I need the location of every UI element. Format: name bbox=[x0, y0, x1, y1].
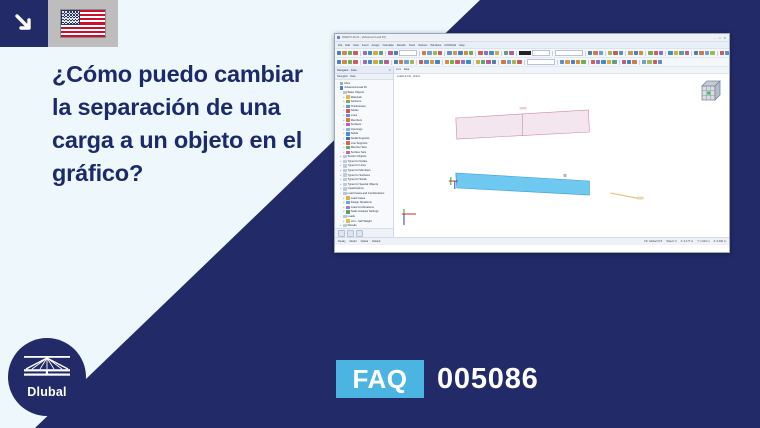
menu-item-assign[interactable]: Assign bbox=[372, 44, 380, 47]
toolbar-icon[interactable] bbox=[658, 60, 662, 64]
toolbar-icon[interactable] bbox=[445, 60, 449, 64]
tree-twisty-icon[interactable]: + bbox=[342, 220, 345, 223]
tree-twisty-icon[interactable]: + bbox=[342, 114, 345, 117]
toolbar-separator bbox=[360, 51, 361, 56]
menu-item-tools[interactable]: Tools bbox=[409, 44, 415, 47]
tree-item-label: Design Situations bbox=[351, 201, 372, 204]
tree-node-icon bbox=[343, 183, 346, 186]
tree-twisty-icon[interactable]: + bbox=[339, 155, 342, 158]
toolbar-separator bbox=[442, 60, 443, 65]
toolbar-icon[interactable] bbox=[601, 60, 605, 64]
toolbar-icon[interactable] bbox=[501, 60, 505, 64]
navigator-tab-navigator[interactable]: Navigator bbox=[337, 75, 348, 78]
toolbar-icon[interactable] bbox=[410, 60, 414, 64]
toolbar-icon[interactable] bbox=[464, 51, 468, 55]
toolbar-icon[interactable] bbox=[453, 51, 457, 55]
tree-item-label: Members bbox=[351, 119, 362, 122]
toolbar-separator bbox=[475, 51, 476, 56]
tree-twisty-icon[interactable]: + bbox=[342, 146, 345, 149]
toolbar-icon[interactable] bbox=[368, 60, 372, 64]
menu-item-insert[interactable]: Insert bbox=[362, 44, 369, 47]
toolbar-dropdown[interactable] bbox=[399, 50, 417, 57]
toolbar-icon[interactable] bbox=[599, 51, 603, 55]
tree-twisty-icon[interactable]: + bbox=[339, 183, 342, 186]
tree-twisty-icon[interactable]: + bbox=[342, 151, 345, 154]
tree-twisty-icon[interactable]: + bbox=[342, 100, 345, 103]
application-window: RFEM 5.26.01 - [Advanced Load #4] – □ ✕ … bbox=[334, 33, 730, 253]
toolbar-icon[interactable] bbox=[466, 60, 470, 64]
toolbar-icon[interactable] bbox=[337, 60, 341, 64]
toolbar-icon[interactable] bbox=[634, 51, 638, 55]
tree-twisty-icon[interactable]: + bbox=[342, 142, 345, 145]
toolbar-row-2[interactable] bbox=[335, 58, 729, 67]
toolbar-icon[interactable] bbox=[685, 51, 689, 55]
tree-item-label: Lines bbox=[351, 114, 357, 117]
toolbar-icon[interactable] bbox=[433, 51, 437, 55]
toolbar-icon[interactable] bbox=[517, 60, 521, 64]
tree-node-icon bbox=[346, 196, 349, 199]
tree-item-label: Solids bbox=[351, 132, 358, 135]
dlubal-logo: Dlubal bbox=[8, 338, 86, 416]
close-icon[interactable]: ✕ bbox=[723, 36, 726, 40]
tree-node-icon bbox=[346, 118, 349, 121]
tree-item-label: Sections bbox=[351, 100, 361, 103]
toolbar-icon[interactable] bbox=[394, 51, 398, 55]
navigator-footer[interactable] bbox=[335, 228, 393, 237]
tree-twisty-icon[interactable]: + bbox=[342, 123, 345, 126]
toolbar-icon[interactable] bbox=[504, 51, 508, 55]
toolbar-icon[interactable] bbox=[659, 51, 663, 55]
status-cell: CS: Global XYZ bbox=[644, 240, 662, 243]
tree-item-label: Advanced Load #4 bbox=[344, 86, 366, 89]
toolbar-separator bbox=[416, 60, 417, 65]
toolbar-icon[interactable] bbox=[571, 60, 575, 64]
toolbar-icon[interactable] bbox=[379, 60, 383, 64]
menu-item-view[interactable]: View bbox=[353, 44, 359, 47]
tree-item-label: Load Cases bbox=[351, 197, 365, 200]
toolbar-icon[interactable] bbox=[720, 51, 724, 55]
toolbar-icon[interactable] bbox=[342, 60, 346, 64]
toolbar-icon[interactable] bbox=[424, 60, 428, 64]
status-cell: Y: 1.024 m bbox=[697, 240, 709, 243]
tree-twisty-icon[interactable]: - bbox=[339, 91, 342, 94]
toolbar-icon[interactable] bbox=[458, 51, 462, 55]
toolbar-icon[interactable] bbox=[581, 60, 585, 64]
toolbar-separator bbox=[360, 60, 361, 65]
toolbar-color-swatch[interactable] bbox=[519, 51, 531, 55]
tree-node-icon bbox=[343, 91, 346, 94]
arrow-badge bbox=[0, 0, 48, 47]
tree-twisty-icon[interactable]: + bbox=[339, 224, 342, 227]
toolbar-icon[interactable] bbox=[607, 60, 611, 64]
tree-item-label: Files bbox=[344, 82, 350, 85]
toolbar-icon[interactable] bbox=[450, 60, 454, 64]
tree-item-label: Types for Nodes bbox=[348, 160, 368, 163]
tree-node-icon bbox=[346, 105, 349, 108]
window-body: Navigator - Data ✕ NavigatorData -Files-… bbox=[335, 67, 729, 237]
tree-node-icon bbox=[343, 187, 346, 190]
toolbar-separator bbox=[444, 51, 445, 56]
toolbar-icon[interactable] bbox=[507, 60, 511, 64]
tree-node-icon bbox=[346, 128, 349, 131]
menu-item-options[interactable]: Options bbox=[418, 44, 427, 47]
toolbar-separator bbox=[419, 51, 420, 56]
tree-item-label: LC1 - Self Weight bbox=[351, 220, 372, 223]
status-cell: Model bbox=[350, 240, 357, 243]
tree-node-icon bbox=[343, 160, 346, 163]
toolbar-icon[interactable] bbox=[373, 51, 377, 55]
viewport-tab-data[interactable]: Data bbox=[404, 68, 409, 71]
toolbar-icon[interactable] bbox=[455, 60, 459, 64]
toolbar-icon[interactable] bbox=[388, 51, 392, 55]
flag-badge bbox=[48, 0, 118, 47]
tree-node-icon bbox=[343, 178, 346, 181]
toolbar-icon[interactable] bbox=[674, 51, 678, 55]
slide-root: ¿Cómo puedo cambiar la separación de una… bbox=[0, 0, 760, 428]
toolbar-icon[interactable] bbox=[363, 51, 367, 55]
toolbar-separator bbox=[691, 51, 692, 56]
toolbar-separator bbox=[645, 51, 646, 56]
status-cell: X: 0.177 m bbox=[681, 240, 694, 243]
toolbar-separator bbox=[391, 60, 392, 65]
toolbar-separator bbox=[557, 60, 558, 65]
toolbar-separator bbox=[552, 51, 553, 56]
tree-node-icon bbox=[346, 95, 349, 98]
tree-twisty-icon[interactable]: + bbox=[342, 137, 345, 140]
toolbar-icon[interactable] bbox=[560, 60, 564, 64]
tree-item-label: Types for Special Objects bbox=[348, 183, 378, 186]
toolbar-icon[interactable] bbox=[379, 51, 383, 55]
toolbar-icon[interactable] bbox=[363, 60, 367, 64]
viewport-tab-lc1[interactable]: LC1 bbox=[396, 68, 401, 71]
toolbar-separator bbox=[588, 60, 589, 65]
tree-node-icon bbox=[343, 155, 346, 158]
model-geometry bbox=[394, 73, 729, 237]
toolbar-icon[interactable] bbox=[576, 60, 580, 64]
navigator-title: Navigator - Data bbox=[337, 69, 357, 72]
toolbar-icon[interactable] bbox=[435, 60, 439, 64]
tree-node-icon bbox=[346, 210, 349, 213]
toolbar-dropdown[interactable] bbox=[532, 50, 550, 57]
toolbar-icon[interactable] bbox=[512, 60, 516, 64]
toolbar-icon[interactable] bbox=[447, 51, 451, 55]
model-surface-lower bbox=[456, 173, 590, 195]
toolbar-icon[interactable] bbox=[486, 60, 490, 64]
toolbar-icon[interactable] bbox=[632, 60, 636, 64]
toolbar-icon[interactable] bbox=[612, 60, 616, 64]
toolbar-icon[interactable] bbox=[565, 60, 569, 64]
toolbar-icon[interactable] bbox=[481, 60, 485, 64]
toolbar-icon[interactable] bbox=[419, 60, 423, 64]
toolbar-icon[interactable] bbox=[509, 51, 513, 55]
tree-twisty-icon[interactable]: + bbox=[342, 128, 345, 131]
menu-item-windows[interactable]: Windows bbox=[430, 44, 441, 47]
truss-bridge-icon bbox=[24, 356, 70, 386]
arrow-down-right-icon bbox=[12, 11, 36, 35]
tree-node-icon bbox=[346, 109, 349, 112]
toolbar-icon[interactable] bbox=[699, 51, 703, 55]
tree-item-label: Load Combinations bbox=[351, 206, 374, 209]
tree-node-icon bbox=[343, 215, 346, 218]
toolbar-icon[interactable] bbox=[694, 51, 698, 55]
tree-item-label: Static Analysis Settings bbox=[351, 210, 379, 213]
toolbar-row-1[interactable] bbox=[335, 49, 729, 58]
toolbar-icon[interactable] bbox=[495, 51, 499, 55]
title-bar: RFEM 5.26.01 - [Advanced Load #4] – □ ✕ bbox=[335, 34, 729, 42]
tree-item-label: Openings bbox=[351, 128, 363, 131]
toolbar-icon[interactable] bbox=[404, 60, 408, 64]
tree-twisty-icon[interactable]: + bbox=[342, 132, 345, 135]
navigator-header: Navigator - Data ✕ bbox=[335, 67, 393, 74]
toolbar-icon[interactable] bbox=[654, 51, 658, 55]
tree-node-icon bbox=[340, 82, 343, 85]
toolbar-icon[interactable] bbox=[628, 51, 632, 55]
toolbar-icon[interactable] bbox=[353, 60, 357, 64]
toolbar-icon[interactable] bbox=[619, 51, 623, 55]
toolbar-separator bbox=[605, 51, 606, 56]
status-cell: Ready bbox=[338, 240, 346, 243]
toolbar-separator bbox=[665, 51, 666, 56]
tree-item-label: Line Supports bbox=[351, 142, 368, 145]
toolbar-icon[interactable] bbox=[394, 60, 398, 64]
toolbar-icon[interactable] bbox=[342, 51, 346, 55]
model-viewport[interactable]: LC1Data Loads [LC1] - kN/m² bbox=[394, 67, 729, 237]
toolbar-icon[interactable] bbox=[422, 51, 426, 55]
status-cell: Object: 0 bbox=[666, 240, 676, 243]
toolbar-separator bbox=[385, 51, 386, 56]
tree-item-label: Surface Sets bbox=[351, 151, 366, 154]
tree-twisty-icon[interactable]: + bbox=[339, 160, 342, 163]
tree-twisty-icon[interactable]: + bbox=[342, 210, 345, 213]
tree-twisty-icon[interactable]: + bbox=[339, 174, 342, 177]
tree-item-label: Results bbox=[348, 224, 357, 227]
toolbar-icon[interactable] bbox=[705, 51, 709, 55]
window-buttons[interactable]: – □ ✕ bbox=[714, 36, 729, 40]
toolbar-icon[interactable] bbox=[679, 51, 683, 55]
menu-bar[interactable]: FileEditViewInsertAssignCalculateResults… bbox=[335, 42, 729, 49]
toolbar-icon[interactable] bbox=[430, 60, 434, 64]
tree-item-label: Imperfections bbox=[348, 187, 364, 190]
tree-twisty-icon[interactable]: + bbox=[339, 164, 342, 167]
member-line-right bbox=[610, 193, 641, 199]
tree-item-label: Thicknesses bbox=[351, 105, 366, 108]
maximize-icon[interactable]: □ bbox=[719, 36, 721, 40]
tree-item-label: Nodes bbox=[351, 109, 359, 112]
toolbar-separator bbox=[498, 60, 499, 65]
tree-node-icon bbox=[346, 206, 349, 209]
tree-item-label: Nodal Supports bbox=[351, 137, 370, 140]
toolbar-icon[interactable] bbox=[373, 60, 377, 64]
tree-item-label: Types for Surfaces bbox=[348, 174, 370, 177]
toolbar-icon[interactable] bbox=[427, 51, 431, 55]
tree-item-label: Basic Objects bbox=[348, 91, 364, 94]
faq-badge: FAQ bbox=[336, 360, 424, 398]
toolbar-separator bbox=[619, 60, 620, 65]
toolbar-icon[interactable] bbox=[368, 51, 372, 55]
tree-twisty-icon[interactable]: + bbox=[342, 109, 345, 112]
toolbar-icon[interactable] bbox=[725, 51, 729, 55]
tree-node-icon bbox=[340, 86, 343, 89]
toolbar-icon[interactable] bbox=[484, 51, 488, 55]
toolbar-separator bbox=[717, 51, 718, 56]
toolbar-icon[interactable] bbox=[476, 60, 480, 64]
navigator-tab-data[interactable]: Data bbox=[350, 75, 355, 78]
toolbar-icon[interactable] bbox=[593, 51, 597, 55]
tree-item-label: Types for Lines bbox=[348, 164, 366, 167]
tree-twisty-icon[interactable]: + bbox=[339, 187, 342, 190]
tree-node-icon bbox=[346, 146, 349, 149]
view-cube-icon[interactable] bbox=[698, 78, 724, 104]
tree-node-icon bbox=[346, 132, 349, 135]
toolbar-icon[interactable] bbox=[622, 60, 626, 64]
tree-node-icon bbox=[343, 192, 346, 195]
toolbar-icon[interactable] bbox=[627, 60, 631, 64]
toolbar-separator bbox=[524, 60, 525, 65]
toolbar-icon[interactable] bbox=[478, 51, 482, 55]
toolbar-icon[interactable] bbox=[489, 51, 493, 55]
tree-twisty-icon[interactable]: + bbox=[342, 197, 345, 200]
toolbar-icon[interactable] bbox=[438, 51, 442, 55]
tree-item-label: Types for Solids bbox=[348, 178, 367, 181]
menu-item-file[interactable]: File bbox=[338, 44, 342, 47]
tree-node-icon bbox=[346, 137, 349, 140]
menu-item-com-add[interactable]: COM/Add bbox=[444, 44, 456, 47]
toolbar-icon[interactable] bbox=[642, 60, 646, 64]
toolbar-icon[interactable] bbox=[469, 51, 473, 55]
tree-node-icon bbox=[343, 224, 346, 227]
toolbar-icon[interactable] bbox=[461, 60, 465, 64]
tree-node-icon bbox=[346, 114, 349, 117]
tree-twisty-icon[interactable]: + bbox=[339, 169, 342, 172]
tree-node-icon bbox=[346, 123, 349, 126]
tree-item-label: Materials bbox=[351, 96, 362, 99]
model-canvas[interactable] bbox=[394, 73, 729, 237]
project-navigator-button[interactable] bbox=[338, 230, 345, 237]
tree-node-icon bbox=[346, 141, 349, 144]
toolbar-separator bbox=[585, 51, 586, 56]
status-cell: Z: 0.000 m bbox=[714, 240, 726, 243]
page-title: ¿Cómo puedo cambiar la separación de una… bbox=[52, 58, 317, 190]
toolbar-separator bbox=[516, 51, 517, 56]
tree-twisty-icon[interactable]: + bbox=[342, 105, 345, 108]
toolbar-icon[interactable] bbox=[591, 60, 595, 64]
navigator-tree[interactable]: -Files-Advanced Load #4-Basic Objects+Ma… bbox=[335, 80, 393, 228]
tree-node-icon bbox=[346, 100, 349, 103]
display-navigator-button[interactable] bbox=[347, 230, 354, 237]
toolbar-icon[interactable] bbox=[384, 60, 388, 64]
toolbar-dropdown[interactable] bbox=[527, 59, 555, 66]
results-navigator-button[interactable] bbox=[356, 230, 363, 237]
tree-twisty-icon[interactable]: - bbox=[336, 82, 339, 85]
tree-node-icon bbox=[346, 201, 349, 204]
tree-twisty-icon[interactable]: - bbox=[339, 215, 342, 218]
tree-twisty-icon[interactable]: + bbox=[342, 96, 345, 99]
window-title: RFEM 5.26.01 - [Advanced Load #4] bbox=[342, 36, 386, 39]
tree-twisty-icon[interactable]: + bbox=[342, 119, 345, 122]
toolbar-separator bbox=[639, 60, 640, 65]
toolbar-icon[interactable] bbox=[647, 60, 651, 64]
toolbar-icon[interactable] bbox=[639, 51, 643, 55]
toolbar-icon[interactable] bbox=[492, 60, 496, 64]
status-cell: Default bbox=[372, 240, 380, 243]
toolbar-icon[interactable] bbox=[653, 60, 657, 64]
toolbar-icon[interactable] bbox=[337, 51, 341, 55]
toolbar-icon[interactable] bbox=[353, 51, 357, 55]
toolbar-icon[interactable] bbox=[613, 51, 617, 55]
toolbar-icon[interactable] bbox=[668, 51, 672, 55]
tree-node-icon bbox=[343, 173, 346, 176]
toolbar-icon[interactable] bbox=[348, 51, 352, 55]
navigator-panel: Navigator - Data ✕ NavigatorData -Files-… bbox=[335, 67, 394, 237]
tree-node-icon bbox=[343, 169, 346, 172]
tree-item-label: Types for Members bbox=[348, 169, 371, 172]
toolbar-icon[interactable] bbox=[648, 51, 652, 55]
menu-item-edit[interactable]: Edit bbox=[345, 44, 350, 47]
tree-node-icon bbox=[346, 151, 349, 154]
toolbar-separator bbox=[473, 60, 474, 65]
status-bar: ReadyModelGlobalDefaultCS: Global XYZObj… bbox=[335, 237, 729, 245]
toolbar-icon[interactable] bbox=[710, 51, 714, 55]
tree-twisty-icon[interactable]: - bbox=[339, 192, 342, 195]
tree-twisty-icon[interactable]: + bbox=[342, 206, 345, 209]
toolbar-icon[interactable] bbox=[608, 51, 612, 55]
toolbar-icon[interactable] bbox=[588, 51, 592, 55]
toolbar-icon[interactable] bbox=[348, 60, 352, 64]
toolbar-icon[interactable] bbox=[596, 60, 600, 64]
status-cell: Global bbox=[361, 240, 369, 243]
menu-item-help[interactable]: Help bbox=[459, 44, 465, 47]
tree-twisty-icon[interactable]: + bbox=[339, 178, 342, 181]
us-flag-icon bbox=[61, 10, 105, 37]
tree-item-label: Loads bbox=[348, 215, 355, 218]
menu-item-results[interactable]: Results bbox=[397, 44, 406, 47]
tree-item-label: Load Cases and Combinations bbox=[348, 192, 385, 195]
menu-item-calculate[interactable]: Calculate bbox=[383, 44, 394, 47]
tree-node-icon bbox=[346, 219, 349, 222]
tree-item-label: Surfaces bbox=[351, 123, 362, 126]
coordinate-axes-icon bbox=[402, 209, 416, 225]
tree-twisty-icon[interactable]: + bbox=[342, 201, 345, 204]
tree-item-label: Member Sets bbox=[351, 146, 367, 149]
faq-number: 005086 bbox=[437, 360, 539, 398]
tree-node-icon bbox=[343, 164, 346, 167]
navigator-close-icon[interactable]: ✕ bbox=[389, 68, 393, 72]
dlubal-wordmark: Dlubal bbox=[8, 385, 86, 399]
toolbar-dropdown[interactable] bbox=[555, 50, 583, 57]
toolbar-icon[interactable] bbox=[399, 60, 403, 64]
toolbar-separator bbox=[501, 51, 502, 56]
app-icon bbox=[337, 36, 340, 39]
tree-item-label: Section Objects bbox=[348, 155, 367, 158]
minimize-icon[interactable]: – bbox=[714, 36, 716, 40]
tree-twisty-icon[interactable]: - bbox=[336, 86, 339, 89]
toolbar-separator bbox=[625, 51, 626, 56]
